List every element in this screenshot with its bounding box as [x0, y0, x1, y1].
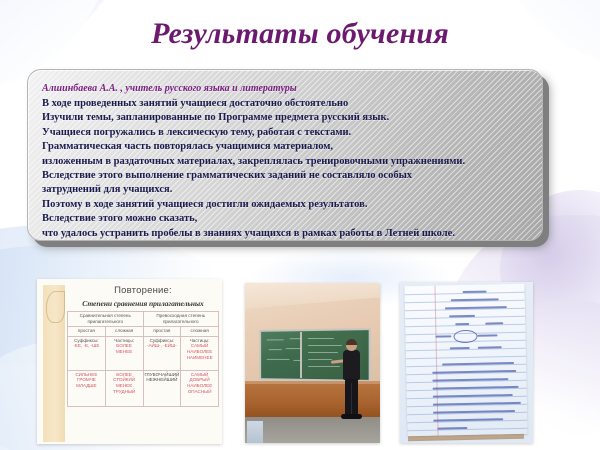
grammar-caption-subtitle: Степени сравнения прилагательных [67, 299, 219, 308]
student-hair [346, 339, 357, 345]
body-line-3: Учащиеся погружались в лексическую тему,… [42, 126, 532, 140]
sub-header-3: простая [143, 327, 181, 337]
results-text-content: Алшинбаева А.А. , учитель русского языка… [42, 81, 532, 241]
body-line-10: что удалось устранить пробелы в знаниях … [42, 227, 532, 241]
body-line-2: Изучили темы, запланированные по Програм… [42, 111, 532, 125]
example-4-1: САМЫЙ ДОБРЫЙ [190, 372, 210, 383]
notebook-page [404, 284, 527, 436]
photo-notebook [400, 282, 533, 443]
example-3-2: НЕЖНЕЙШИЙ [146, 377, 177, 382]
body-line-8: Поэтому в ходе занятий учащиеся достигли… [42, 198, 532, 212]
student-shoes [341, 414, 362, 419]
classroom-foreground-object [247, 421, 263, 443]
group-header-superlative: Превосходная степень прилагательного [143, 312, 219, 327]
handwriting-stroke [455, 323, 469, 325]
form-2-1: БОЛЕЕ [116, 343, 132, 348]
grammar-table: Сравнительная степень прилагательного Пр… [67, 311, 219, 407]
cell-forms-3: Суффиксы: -АЙШ-, -ЕЙШ- [143, 336, 181, 370]
student-legs-gap [351, 383, 352, 415]
form-4-3: НАИМЕНЕЕ [187, 355, 213, 360]
sub-header-4: сложная [181, 327, 219, 337]
sheet-margin-strip [43, 285, 65, 442]
group-header-comparative: Сравнительная степень прилагательного [68, 312, 144, 327]
handwriting-stroke [435, 335, 451, 337]
body-line-4: Грамматическая часть повторялась учащими… [42, 140, 532, 154]
table-row-examples: СИЛЬНЕЕ ГРОМЧЕ МЛАДШЕ БОЛЕЕ СТОЙКИЙ МЕНЕ… [68, 370, 219, 406]
author-line: Алшинбаева А.А. , учитель русского языка… [42, 81, 532, 96]
example-2-2: МЕНЕЕ ТРУДНЫЙ [113, 383, 135, 394]
cell-forms-4: Частицы: САМЫЙ НАИБОЛЕЕ НАИМЕНЕЕ [181, 336, 219, 370]
body-line-5: изложенным в раздаточных материалах, зак… [42, 155, 532, 169]
label-particle-1: Частицы: [114, 338, 134, 343]
table-row-group-headers: Сравнительная степень прилагательного Пр… [68, 312, 219, 327]
classroom-floor [245, 417, 380, 443]
form-1-1: -ЕЕ, -Е, -ШЕ [73, 343, 99, 348]
body-line-7: затруднений для учащихся. [42, 183, 532, 197]
cell-examples-2: БОЛЕЕ СТОЙКИЙ МЕНЕЕ ТРУДНЫЙ [105, 370, 143, 406]
results-textbox: Алшинбаева А.А. , учитель русского языка… [27, 69, 543, 241]
form-3-1: -АЙШ-, -ЕЙШ- [147, 343, 177, 348]
label-suffix-1: Суффиксы: [74, 338, 99, 343]
example-2-1: БОЛЕЕ СТОЙКИЙ [113, 372, 135, 383]
cell-examples-1: СИЛЬНЕЕ ГРОМЧЕ МЛАДШЕ [68, 370, 106, 406]
body-line-9: Вследствие этого можно сказать, [42, 212, 532, 226]
table-row-sub-headers: простая сложная простая сложная [68, 327, 219, 337]
grammar-sheet: Повторение: Степени сравнения прилагател… [37, 279, 222, 444]
example-4-2: НАИБОЛЕЕ ОПАСНЫЙ [187, 383, 212, 394]
results-textbox-surface: Алшинбаева А.А. , учитель русского языка… [27, 69, 543, 241]
cell-examples-3: ГЛУБОЧАЙШИЙ НЕЖНЕЙШИЙ [143, 370, 181, 406]
body-line-1: В ходе проведенных занятий учащиеся дост… [42, 97, 532, 111]
cell-examples-4: САМЫЙ ДОБРЫЙ НАИБОЛЕЕ ОПАСНЫЙ [181, 370, 219, 406]
handwriting-stroke [477, 334, 497, 336]
grammar-table-body: Повторение: Степени сравнения прилагател… [67, 283, 219, 440]
form-4-1: САМЫЙ [191, 343, 208, 348]
slide-canvas: Результаты обучения Алшинбаева А.А. , уч… [0, 0, 600, 450]
sub-header-2: сложная [105, 327, 143, 337]
page-title: Результаты обучения [0, 16, 600, 52]
table-row-forms: Суффиксы: -ЕЕ, -Е, -ШЕ Частицы: БОЛЕЕ МЕ… [68, 336, 219, 370]
form-2-2: МЕНЕЕ [116, 349, 132, 354]
form-4-2: НАИБОЛЕЕ [187, 349, 212, 354]
classroom-wall-panel [245, 381, 380, 417]
student-torso [343, 350, 360, 380]
body-line-6: Вследствие этого выполнение грамматическ… [42, 169, 532, 183]
example-1-1: СИЛЬНЕЕ [75, 372, 97, 377]
cell-forms-2: Частицы: БОЛЕЕ МЕНЕЕ [105, 336, 143, 370]
example-1-3: МЛАДШЕ [76, 383, 96, 388]
example-1-2: ГРОМЧЕ [77, 377, 96, 382]
sub-header-1: простая [68, 327, 106, 337]
cell-forms-1: Суффиксы: -ЕЕ, -Е, -ШЕ [68, 336, 106, 370]
grammar-caption-title: Повторение: [67, 285, 219, 296]
photo-classroom [245, 283, 380, 443]
photo-grammar-table: Повторение: Степени сравнения прилагател… [37, 279, 222, 444]
